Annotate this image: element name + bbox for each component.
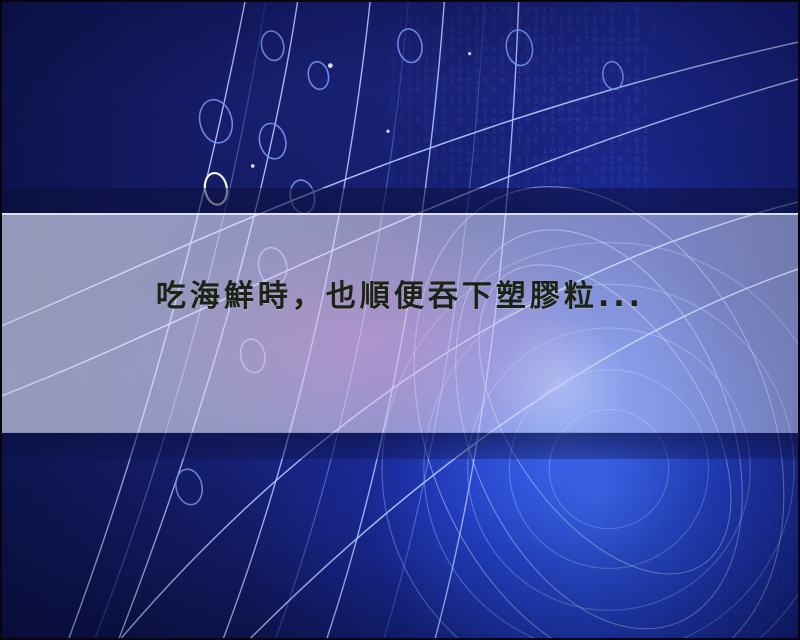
- band-shade-top: [2, 188, 798, 213]
- headline-title: 吃海鮮時，也順便吞下塑膠粒...: [80, 271, 720, 323]
- news-banner-card: 0100 01 0 0100010010 1 0 101 0 01000 010…: [0, 0, 800, 640]
- headline-overlay-band: 吃海鮮時，也順便吞下塑膠粒...: [2, 213, 798, 433]
- band-shade-bottom: [2, 433, 798, 459]
